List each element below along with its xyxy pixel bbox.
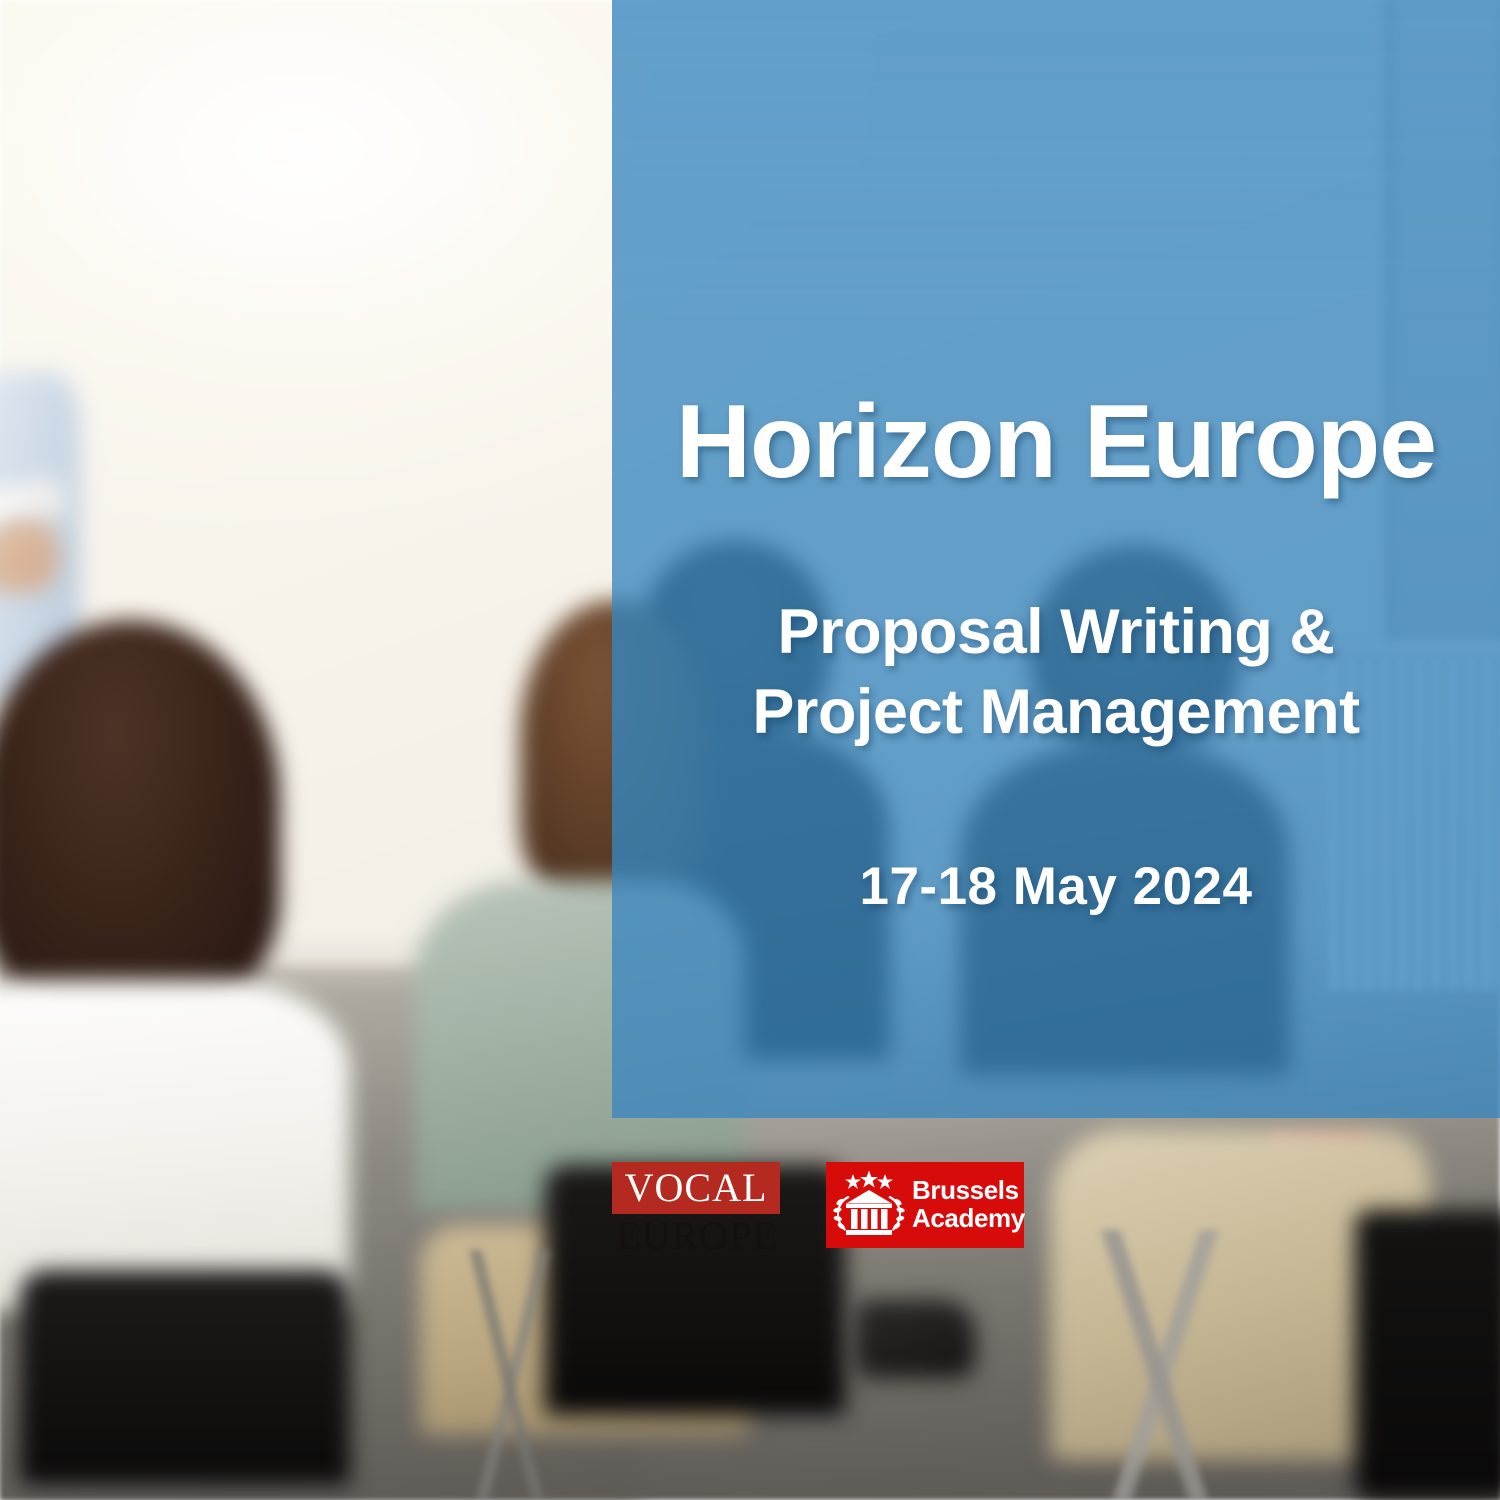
event-poster: Horizon Europe Proposal Writing & Projec… [0, 0, 1500, 1500]
logo-row: VOCAL EUROPE [612, 1162, 1212, 1280]
subtitle-line-2: Project Management [752, 673, 1359, 752]
brussels-academy-label: Brussels Academy [912, 1177, 1025, 1232]
attendee-hair-foreground-left [0, 620, 280, 1020]
event-date: 17-18 May 2024 [859, 856, 1252, 917]
subtitle-line-1: Proposal Writing & [752, 593, 1359, 672]
vocal-logo-word-top: VOCAL [625, 1168, 768, 1208]
vocal-logo-box: VOCAL [612, 1162, 780, 1214]
brussels-academy-logo[interactable]: Brussels Academy [826, 1162, 1024, 1248]
vocal-logo-word-bottom: EUROPE [612, 1216, 782, 1256]
page-title: Horizon Europe [676, 388, 1436, 497]
poster-text-block: Horizon Europe Proposal Writing & Projec… [612, 0, 1500, 1118]
classical-building-icon [833, 1170, 905, 1240]
vocal-europe-logo[interactable]: VOCAL EUROPE [612, 1162, 782, 1256]
attendee-white-shirt [0, 980, 350, 1310]
brussels-academy-line-2: Academy [912, 1205, 1025, 1233]
poster-subtitle: Proposal Writing & Project Management [752, 593, 1359, 752]
chair-legs-left [300, 1250, 720, 1500]
brussels-academy-line-1: Brussels [912, 1177, 1025, 1205]
presenter-arm [0, 520, 58, 592]
